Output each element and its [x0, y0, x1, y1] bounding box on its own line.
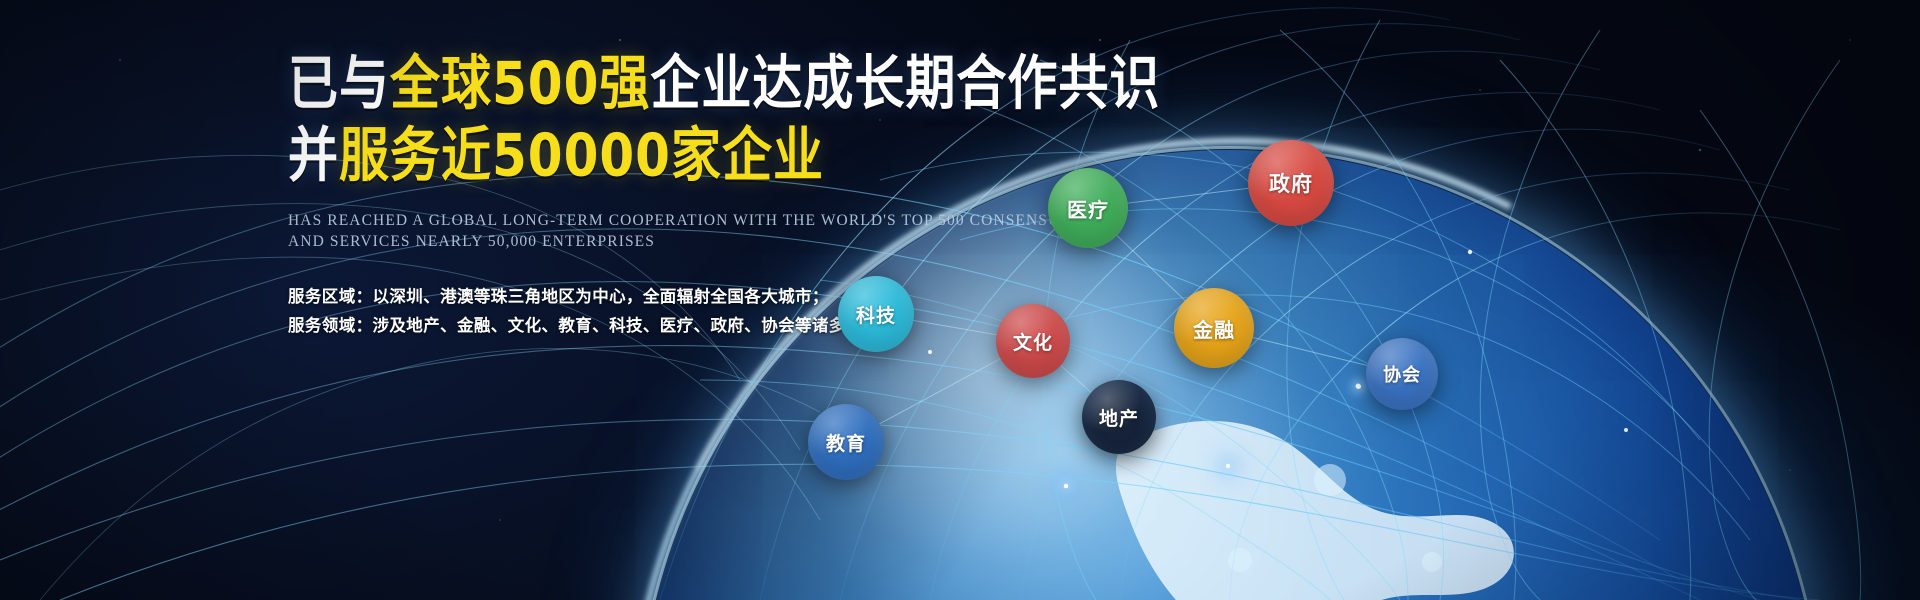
subtitle-english: HAS REACHED A GLOBAL LONG-TERM COOPERATI… — [288, 210, 1108, 252]
industry-node-8[interactable]: 教育 — [808, 404, 884, 480]
network-spark — [1064, 484, 1068, 488]
network-spark — [1226, 464, 1230, 468]
subtitle-en-line-1: HAS REACHED A GLOBAL LONG-TERM COOPERATI… — [288, 210, 1108, 231]
industry-node-label: 医疗 — [1067, 194, 1109, 223]
industry-node-1[interactable]: 政府 — [1248, 140, 1334, 226]
body-line-service-area: 服务区域：以深圳、港澳等珠三角地区为中心，全面辐射全国各大城市； — [288, 282, 1108, 311]
headline2-seg-1: 并 — [288, 121, 339, 189]
headline-seg-2: 全球500强 — [390, 49, 650, 117]
industry-node-label: 地产 — [1099, 404, 1139, 431]
industry-node-label: 科技 — [856, 301, 896, 328]
industry-node-2[interactable]: 医疗 — [1048, 168, 1128, 248]
copy-block: 已与全球500强企业达成长期合作共识 并服务近50000家企业 HAS REAC… — [288, 54, 1108, 340]
industry-node-7[interactable]: 地产 — [1082, 380, 1156, 454]
headline-line-2: 并服务近50000家企业 — [288, 126, 1108, 185]
industry-node-label: 文化 — [1013, 328, 1053, 355]
body-line-service-fields: 服务领域：涉及地产、金融、文化、教育、科技、医疗、政府、协会等诸多领域。 — [288, 311, 1108, 340]
headline-line-1: 已与全球500强企业达成长期合作共识 — [288, 54, 1108, 113]
network-spark — [1356, 384, 1361, 389]
industry-node-4[interactable]: 文化 — [996, 304, 1070, 378]
headline2-seg-2: 服务近50000家企业 — [339, 121, 824, 189]
promo-banner: 已与全球500强企业达成长期合作共识 并服务近50000家企业 HAS REAC… — [0, 0, 1920, 600]
body-text: 服务区域：以深圳、港澳等珠三角地区为中心，全面辐射全国各大城市； 服务领域：涉及… — [288, 282, 1108, 340]
industry-node-label: 金融 — [1193, 314, 1235, 343]
industry-node-label: 教育 — [826, 429, 866, 456]
industry-node-label: 政府 — [1269, 168, 1313, 198]
subtitle-en-line-2: AND SERVICES NEARLY 50,000 ENTERPRISES — [288, 231, 1108, 252]
headline-seg-3: 企业达成长期合作共识 — [650, 49, 1160, 117]
industry-node-5[interactable]: 金融 — [1174, 288, 1254, 368]
industry-node-label: 协会 — [1383, 361, 1421, 387]
industry-node-6[interactable]: 协会 — [1366, 338, 1438, 410]
headline-seg-1: 已与 — [288, 49, 390, 117]
industry-node-3[interactable]: 科技 — [838, 276, 914, 352]
